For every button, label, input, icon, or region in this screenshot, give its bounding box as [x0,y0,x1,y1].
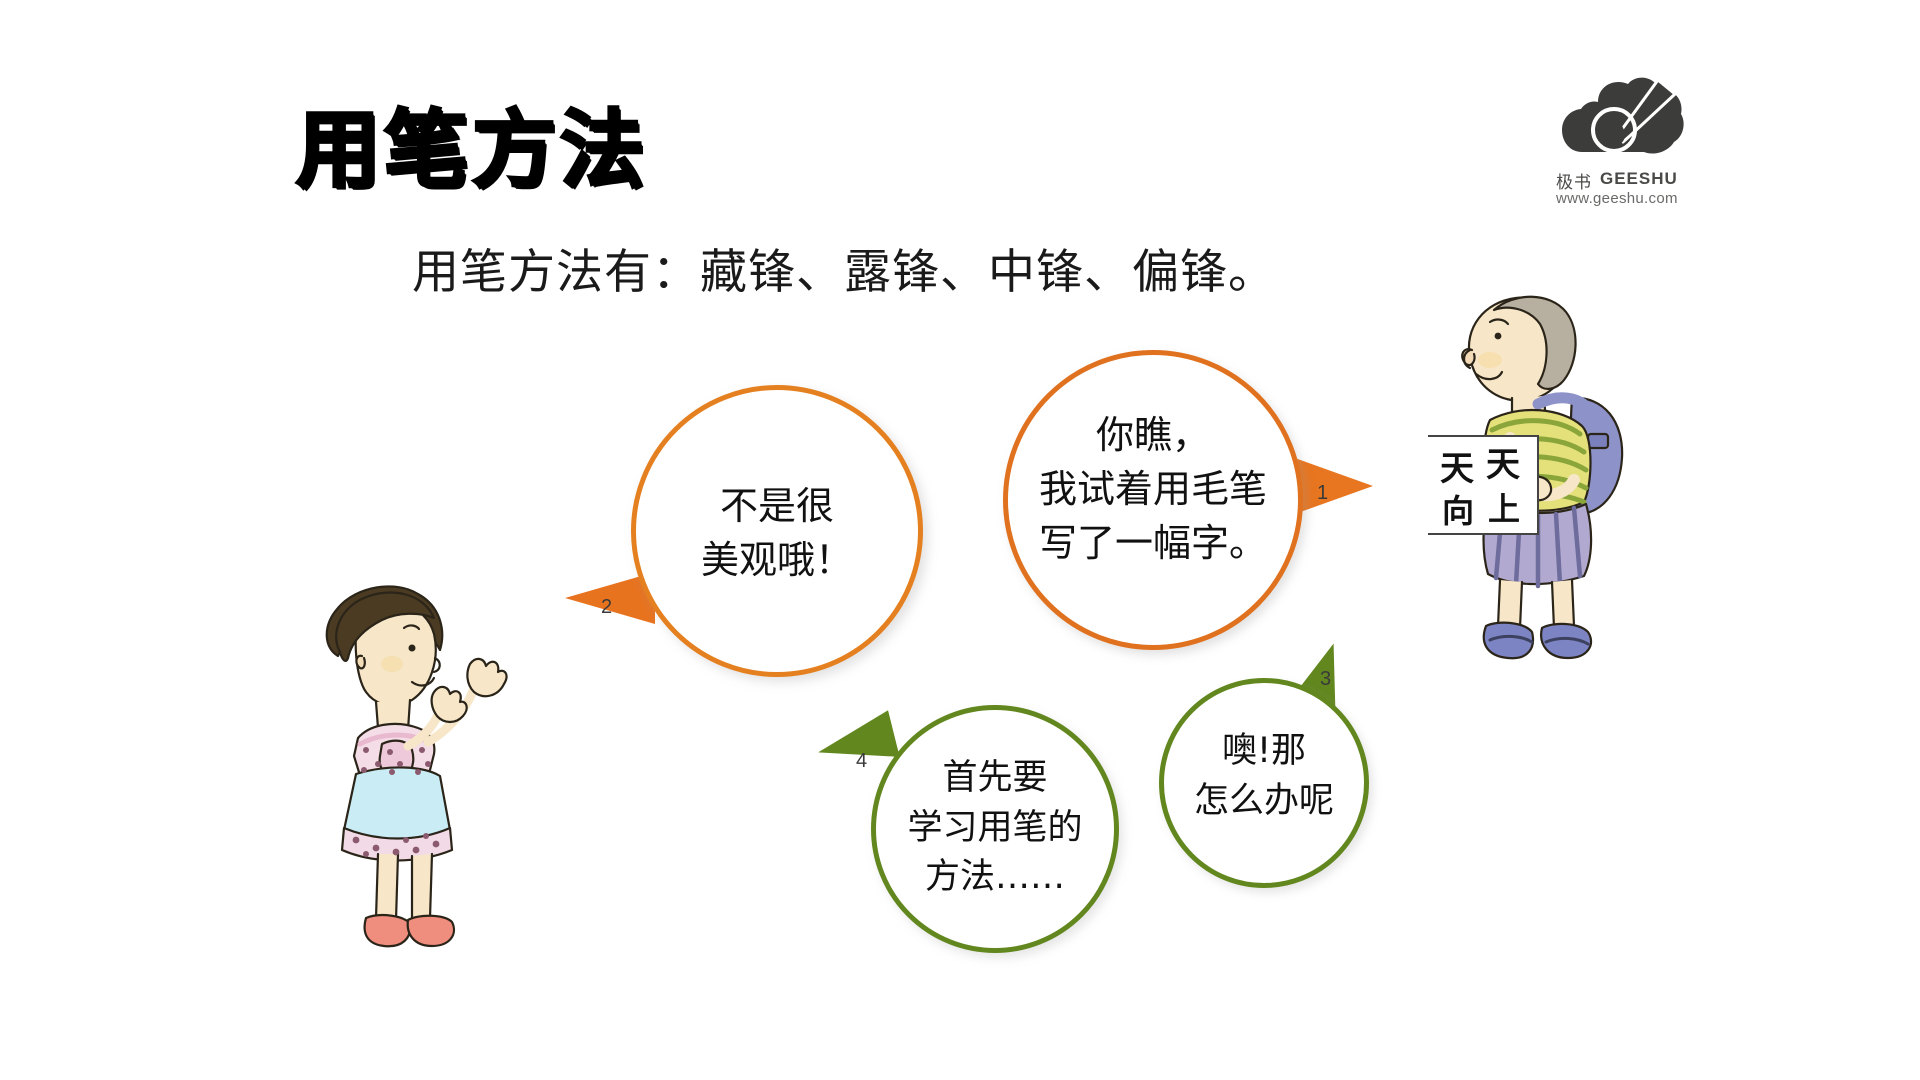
speech-bubble-4-number: 4 [856,750,867,773]
speech-bubble-3[interactable]: 噢!那 怎么办呢 [1159,678,1369,888]
page-title: 用笔方法 [296,108,648,192]
svg-text:向: 向 [1442,492,1474,530]
speech-bubble-3-number: 3 [1320,668,1331,691]
page-subtitle: 用笔方法有：藏锋、露锋、中锋、偏锋。 [412,249,1276,296]
speech-bubble-1[interactable]: 你瞧， 我试着用毛笔 写了一幅字。 [1003,350,1303,650]
speech-bubble-4[interactable]: 首先要 学习用笔的 方法…… [871,705,1119,953]
speech-bubble-1-text: 你瞧， 我试着用毛笔 写了一幅字。 [1008,409,1298,571]
logo-brand-en: GEESHU [1600,169,1678,189]
speech-bubble-2[interactable]: 不是很 美观哦！ [631,385,923,677]
calligraphy-sheet: 天 天 向 上 [1428,436,1538,534]
speech-bubble-3-text: 噢!那 怎么办呢 [1164,727,1364,826]
brand-logo: 极书 GEESHU www.geeshu.com [1556,72,1726,212]
svg-text:上: 上 [1488,490,1520,528]
speech-bubble-4-text: 首先要 学习用笔的 方法…… [876,754,1114,903]
svg-text:天: 天 [1486,445,1520,485]
svg-text:天: 天 [1440,449,1474,489]
slide-canvas: 用笔方法 用笔方法有：藏锋、露锋、中锋、偏锋。 极书 GEESHU www.ge… [0,0,1920,1080]
speech-bubble-2-number: 2 [601,596,612,619]
cloud-brush-icon [1562,72,1687,167]
girl-illustration [300,578,550,998]
speech-bubble-2-text: 不是很 美观哦！ [636,480,918,588]
speech-bubble-1-number: 1 [1317,482,1328,505]
boy-illustration: 天 天 向 上 [1428,288,1688,683]
logo-url: www.geeshu.com [1556,190,1678,207]
